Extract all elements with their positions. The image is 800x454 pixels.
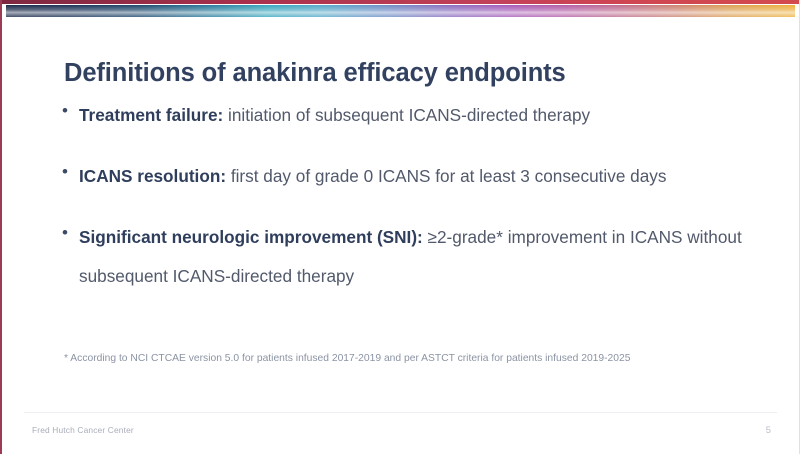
brand-gradient-bar [6, 5, 795, 17]
list-item-term: ICANS resolution: [79, 166, 226, 186]
top-accent-strip [2, 0, 799, 4]
list-item: • ICANS resolution: first day of grade 0… [62, 157, 753, 196]
list-item-text: ICANS resolution: first day of grade 0 I… [79, 157, 753, 196]
list-item: • Treatment failure: initiation of subse… [62, 96, 753, 135]
list-item-text: Significant neurologic improvement (SNI)… [79, 218, 753, 296]
list-item: • Significant neurologic improvement (SN… [62, 218, 753, 296]
footer-organization-name: Fred Hutch Cancer Center [32, 425, 134, 435]
bullet-marker-icon: • [62, 157, 79, 186]
list-item-text: Treatment failure: initiation of subsequ… [79, 96, 753, 135]
footnote: * According to NCI CTCAE version 5.0 for… [64, 352, 759, 366]
bullet-marker-icon: • [62, 96, 79, 125]
list-item-term: Significant neurologic improvement (SNI)… [79, 227, 423, 247]
slide-footer: Fred Hutch Cancer Center 5 [2, 412, 799, 454]
list-item-definition: initiation of subsequent ICANS-directed … [223, 105, 590, 125]
list-item-definition: first day of grade 0 ICANS for at least … [226, 166, 666, 186]
bullet-list: • Treatment failure: initiation of subse… [62, 96, 753, 318]
presentation-slide: Definitions of anakinra efficacy endpoin… [0, 0, 800, 454]
slide-number: 5 [766, 424, 771, 435]
footer-divider [24, 412, 777, 413]
page-title: Definitions of anakinra efficacy endpoin… [64, 59, 749, 88]
list-item-term: Treatment failure: [79, 105, 223, 125]
bullet-marker-icon: • [62, 218, 79, 247]
